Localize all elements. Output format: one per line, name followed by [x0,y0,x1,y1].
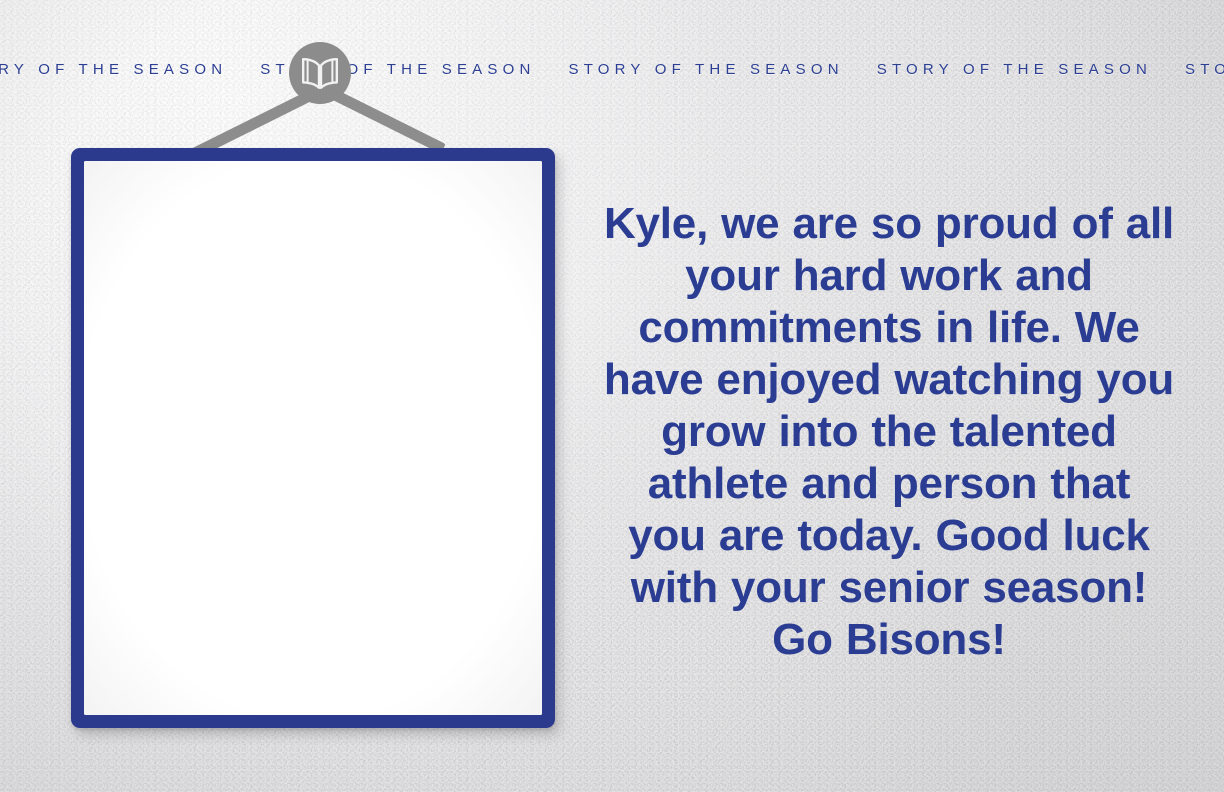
photo-placeholder[interactable] [84,161,542,715]
slide-canvas: STORY OF THE SEASON STORY OF THE SEASON … [0,0,1224,792]
banner-phrase: STORY OF THE SEASON [569,61,877,78]
message-line: with your senior season! [582,562,1196,614]
open-book-emblem [289,42,351,104]
banner-track: STORY OF THE SEASON STORY OF THE SEASON … [0,61,1224,78]
message-line: Kyle, we are so proud of all [582,198,1196,250]
frame-mat [84,161,542,715]
open-book-icon [297,56,343,90]
banner-phrase: STORY OF THE SEASON [1185,61,1224,78]
message-line: athlete and person that [582,458,1196,510]
tribute-message: Kyle, we are so proud of all your hard w… [582,198,1196,666]
message-line: commitments in life. We [582,302,1196,354]
message-line: grow into the talented [582,406,1196,458]
message-line: have enjoyed watching you [582,354,1196,406]
story-of-the-season-banner: STORY OF THE SEASON STORY OF THE SEASON … [0,54,1224,84]
banner-phrase: STORY OF THE SEASON [0,61,260,78]
message-line: Go Bisons! [582,614,1196,666]
banner-phrase: STORY OF THE SEASON [877,61,1185,78]
message-line: you are today. Good luck [582,510,1196,562]
message-line: your hard work and [582,250,1196,302]
picture-frame[interactable] [71,148,555,728]
